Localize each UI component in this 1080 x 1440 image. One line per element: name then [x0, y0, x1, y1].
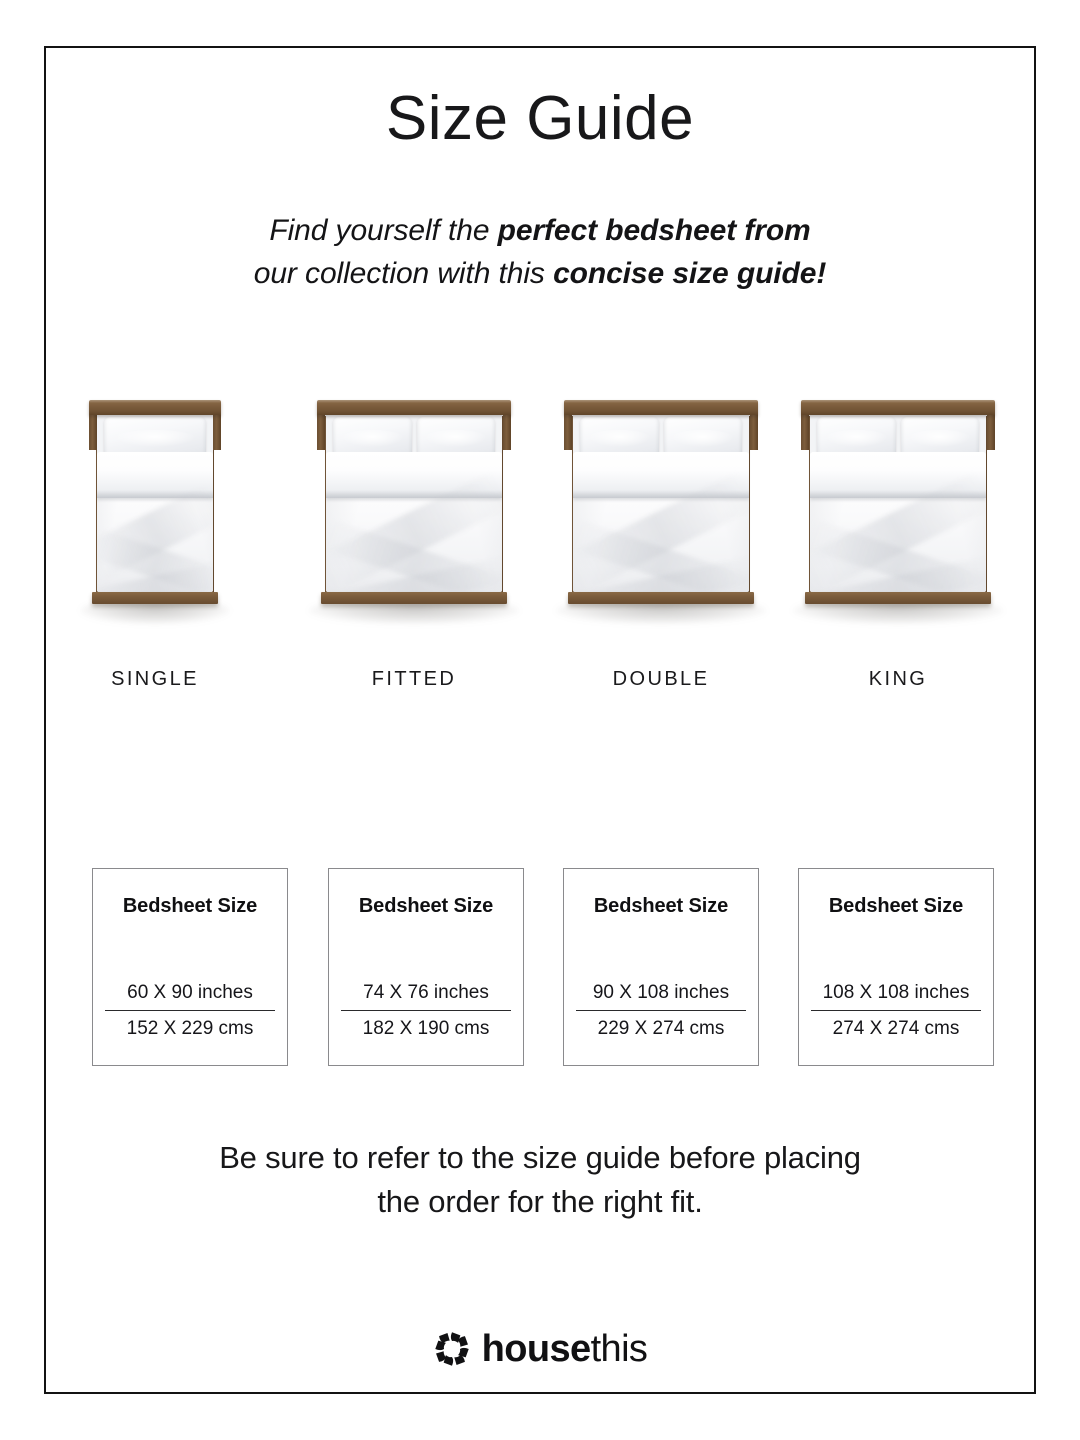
bed-mattress [573, 414, 749, 592]
size-value-cms: 229 X 274 cms [576, 1011, 746, 1043]
size-value-inches: 60 X 90 inches [105, 978, 275, 1010]
bed-footboard [568, 592, 754, 604]
bed-post-left [317, 414, 325, 450]
size-value-inches: 90 X 108 inches [576, 978, 746, 1010]
subtitle-plain-1: Find yourself the [269, 214, 497, 247]
bed-frame [317, 400, 511, 616]
size-value-cms: 274 X 274 cms [811, 1011, 981, 1043]
subtitle-bold-1: perfect bedsheet from [498, 214, 811, 247]
bed-headboard [317, 400, 511, 415]
bed-label-king: KING [788, 668, 1008, 691]
subtitle-plain-2: our collection with this [254, 257, 553, 290]
bed-label-double: DOUBLE [551, 668, 771, 691]
size-box-king: Bedsheet Size108 X 108 inches274 X 274 c… [798, 868, 994, 1066]
size-box-dimensions: 90 X 108 inches229 X 274 cms [576, 978, 746, 1043]
bed-footboard [805, 592, 991, 604]
bed-illustration-single [89, 392, 221, 632]
size-box-title: Bedsheet Size [564, 895, 758, 918]
size-box-title: Bedsheet Size [799, 895, 993, 918]
size-box-dimensions: 74 X 76 inches182 X 190 cms [341, 978, 511, 1043]
bed-post-right [987, 414, 995, 450]
bed-duvet [810, 452, 986, 592]
logo-text-light: this [591, 1328, 648, 1370]
footer-note-line-1: Be sure to refer to the size guide befor… [219, 1140, 861, 1175]
footer-note-line-2: the order for the right fit. [377, 1184, 702, 1219]
subtitle-line-1: Find yourself the perfect bedsheet from [269, 214, 810, 247]
bed-mattress [97, 414, 213, 592]
size-box-dimensions: 60 X 90 inches152 X 229 cms [105, 978, 275, 1043]
bed-headboard [89, 400, 221, 415]
bed-illustration-king [801, 392, 995, 632]
bed-duvet [573, 452, 749, 592]
bed-frame [89, 400, 221, 616]
bed-label-single: SINGLE [45, 668, 265, 691]
size-value-inches: 74 X 76 inches [341, 978, 511, 1010]
bed-post-right [503, 414, 511, 450]
logo-text-bold: house [482, 1328, 591, 1370]
footer-note: Be sure to refer to the size guide befor… [0, 1136, 1080, 1224]
bed-frame [801, 400, 995, 616]
bed-frame [564, 400, 758, 616]
bed-mattress [810, 414, 986, 592]
bed-headboard [801, 400, 995, 415]
size-box-fitted: Bedsheet Size74 X 76 inches182 X 190 cms [328, 868, 524, 1066]
brand-logo-text: housethis [482, 1330, 648, 1368]
bed-mattress [326, 414, 502, 592]
size-box-single: Bedsheet Size60 X 90 inches152 X 229 cms [92, 868, 288, 1066]
bed-post-left [564, 414, 572, 450]
bed-duvet [326, 452, 502, 592]
bed-footboard [92, 592, 218, 604]
bed-post-right [750, 414, 758, 450]
bed-post-left [801, 414, 809, 450]
size-box-double: Bedsheet Size90 X 108 inches229 X 274 cm… [563, 868, 759, 1066]
bed-illustration-fitted [317, 392, 511, 632]
bed-illustration-row [66, 392, 1014, 632]
size-value-cms: 182 X 190 cms [341, 1011, 511, 1043]
size-value-cms: 152 X 229 cms [105, 1011, 275, 1043]
size-box-title: Bedsheet Size [329, 895, 523, 918]
bed-headboard [564, 400, 758, 415]
page-title: Size Guide [0, 88, 1080, 150]
size-value-inches: 108 X 108 inches [811, 978, 981, 1010]
subtitle-bold-2: concise size guide! [553, 257, 826, 290]
subtitle-line-2: our collection with this concise size gu… [254, 257, 827, 290]
bed-illustration-double [564, 392, 758, 632]
bed-post-left [89, 414, 97, 450]
size-box-title: Bedsheet Size [93, 895, 287, 918]
size-guide-page: Size Guide Find yourself the perfect bed… [0, 0, 1080, 1440]
bed-label-fitted: FITTED [304, 668, 524, 691]
page-subtitle: Find yourself the perfect bedsheet from … [0, 210, 1080, 295]
bed-post-right [213, 414, 221, 450]
bed-duvet [97, 452, 213, 592]
size-box-dimensions: 108 X 108 inches274 X 274 cms [811, 978, 981, 1043]
pinwheel-logo-icon [433, 1330, 471, 1368]
brand-logo: housethis [0, 1330, 1080, 1368]
bed-footboard [321, 592, 507, 604]
